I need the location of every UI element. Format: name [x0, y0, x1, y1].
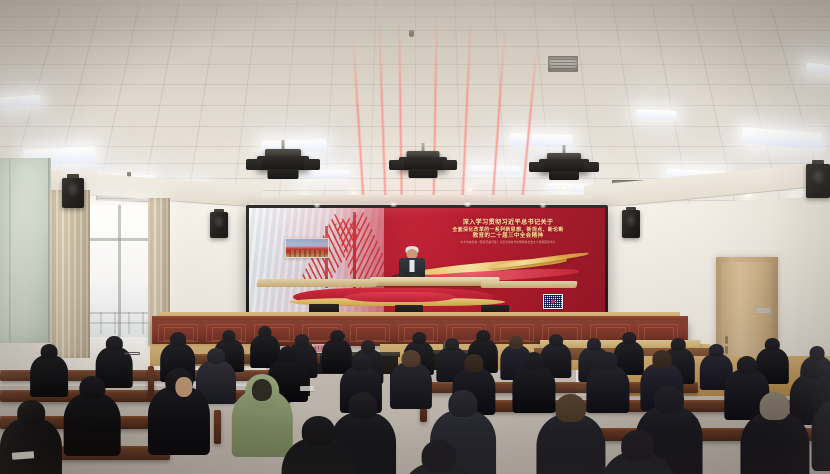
person-hair — [295, 334, 309, 347]
person-hair — [598, 352, 617, 370]
ceiling-panel-light — [636, 109, 676, 120]
broadcast-stage-platform — [345, 292, 455, 302]
broadcast-title-line-1: 深入学习贯彻习近平总书记关于 — [419, 219, 597, 227]
bezel-light-reflection — [388, 202, 399, 207]
person-hair — [106, 336, 122, 351]
person-hair — [402, 350, 421, 367]
person-hair — [448, 390, 477, 417]
person-torso — [390, 362, 432, 409]
wall-speaker-right-front — [622, 207, 640, 239]
audience-person — [148, 368, 210, 458]
red-light-spill-line — [461, 14, 472, 204]
person-torso — [0, 418, 62, 474]
broadcast-title-line-4: 中共中央党校（国家行政学院）习近平新时代中国特色社会主义思想研究中心 — [419, 241, 597, 244]
audience-person — [812, 380, 830, 474]
red-light-spill-line — [352, 34, 365, 202]
person-hair — [622, 332, 635, 344]
person-hair — [509, 336, 523, 349]
person-hair — [464, 354, 483, 372]
window-balcony-rail — [90, 322, 150, 324]
window-mullion-vertical — [118, 205, 121, 337]
eyeglasses — [124, 352, 140, 355]
hanging-speaker-unit — [530, 145, 598, 191]
sprinkler-head — [409, 30, 414, 37]
audience-person — [600, 430, 676, 474]
glass-partition-edge — [9, 158, 11, 343]
broadcast-desk-left — [256, 279, 378, 287]
audience-person — [64, 376, 121, 458]
person-hair — [445, 338, 459, 351]
qr-code — [543, 294, 563, 309]
broadcast-desk-right — [480, 281, 577, 288]
wall-speaker-right-rear — [806, 160, 830, 200]
frosted-glass-partition — [0, 158, 50, 343]
person-hair — [737, 356, 757, 374]
person-hair — [524, 352, 543, 370]
ac-vent — [548, 56, 578, 72]
person-hair — [302, 416, 334, 446]
person-hair — [361, 340, 375, 353]
person-torso — [812, 399, 830, 471]
bezel-light-reflection — [312, 203, 322, 208]
broadcast-title-block: 深入学习贯彻习近平总书记关于 全面深化改革的一系列新思想、新观点、新论断 教育的… — [419, 219, 597, 245]
person-hair — [222, 330, 235, 342]
hanging-speaker-unit — [390, 143, 456, 189]
person-hair — [412, 332, 425, 344]
ceiling-grid-line — [494, 0, 508, 212]
person-face — [175, 377, 192, 397]
person-hair — [709, 344, 723, 357]
person-hair — [803, 360, 824, 379]
person-hair — [330, 330, 343, 342]
person-hair — [765, 338, 779, 351]
hanging-speaker-unit — [248, 140, 318, 188]
audience-person — [400, 440, 478, 474]
broadcast-title-line-3: 教育的二十届三中全会精神 — [419, 233, 597, 240]
window-rail-horizontal — [88, 238, 150, 241]
person-hair — [40, 344, 57, 359]
person-hair — [352, 354, 371, 371]
person-hair — [170, 332, 186, 347]
person-hair — [655, 386, 685, 413]
person-hair — [549, 334, 563, 347]
person-hair — [476, 330, 489, 342]
audience-person — [30, 344, 68, 399]
door-handle[interactable] — [725, 336, 728, 344]
audience-person — [740, 392, 809, 474]
audience-person — [390, 350, 432, 411]
window-balcony-post — [142, 312, 144, 334]
red-light-spill-line — [378, 16, 387, 204]
recessed-downlight — [466, 186, 473, 193]
person-hair — [80, 376, 105, 399]
person-hair — [279, 346, 297, 362]
person-hair — [348, 392, 377, 419]
person-torso — [740, 412, 809, 474]
wall-speaker-left-front — [210, 209, 228, 239]
person-hair — [207, 348, 225, 364]
person-torso — [148, 386, 210, 455]
qr-code-pattern — [544, 295, 562, 308]
door-sign — [755, 307, 771, 314]
window-balcony-post — [128, 312, 130, 334]
person-hair — [759, 392, 790, 420]
wall-speaker-left-rear — [62, 174, 84, 210]
person-hair — [422, 440, 457, 472]
conference-room-photo: 深入学习贯彻习近平总书记关于 全面深化改革的一系列新思想、新观点、新论断 教育的… — [0, 0, 830, 474]
person-hair — [17, 400, 45, 425]
person-hair — [258, 326, 271, 338]
person-hair — [621, 430, 655, 461]
ceiling-grid-line — [323, 0, 337, 212]
person-head — [252, 379, 272, 401]
curtain-left — [50, 190, 90, 358]
audience-person — [0, 400, 62, 474]
person-torso — [64, 393, 121, 456]
person-torso — [30, 355, 68, 397]
person-hair — [809, 346, 824, 360]
audience-person — [282, 416, 355, 474]
person-hair — [587, 338, 601, 351]
window-balcony-post — [114, 312, 116, 334]
window-balcony-rail — [90, 312, 150, 314]
window-balcony-post — [100, 312, 102, 334]
ceiling-grid-line — [369, 0, 377, 212]
bezel-light-reflection — [462, 202, 473, 207]
led-video-wall[interactable]: 深入学习贯彻习近平总书记关于 全面深化改革的一系列新思想、新观点、新论断 教育的… — [249, 208, 605, 315]
bezel-light-reflection — [538, 203, 548, 208]
person-hair — [652, 350, 671, 368]
paper-sheet — [300, 386, 314, 391]
person-hair — [555, 394, 586, 422]
person-torso — [536, 414, 605, 474]
ceiling-panel-light — [806, 62, 830, 74]
bench-arm-post — [214, 410, 221, 444]
audience-person — [536, 394, 605, 474]
